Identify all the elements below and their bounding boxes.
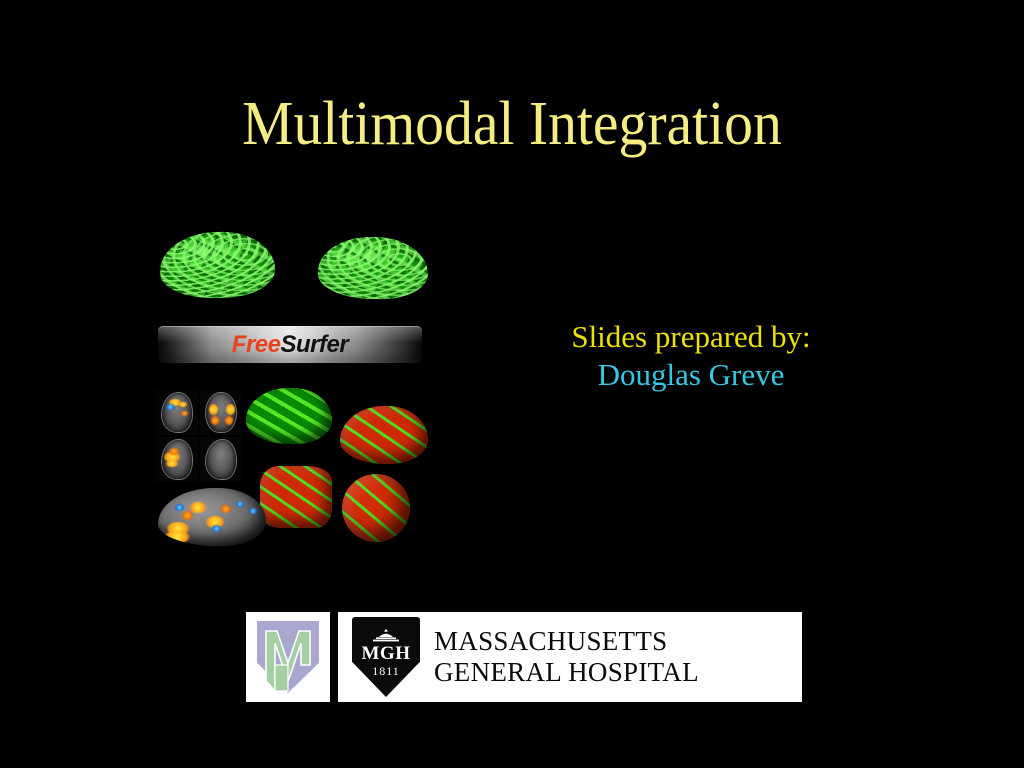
mgh-shield-year: 1811 [352, 665, 420, 678]
flattened-cortical-patch-image [260, 466, 332, 528]
mri-slice-axial-overlay [200, 390, 242, 435]
curvature-map-render [342, 474, 410, 542]
activation-blob [169, 448, 179, 455]
activation-cluster [164, 531, 190, 543]
martinos-shield-icon [257, 621, 319, 693]
mgh-wordmark: MASSACHUSETTS GENERAL HOSPITAL [434, 626, 699, 688]
activation-blob [179, 402, 187, 407]
freesurfer-logo-surfer-text: Surfer [281, 331, 349, 359]
activation-cluster [212, 525, 221, 532]
presentation-slide: Multimodal Integration FreeSurfer [0, 0, 1024, 768]
freesurfer-logo-free-text: Free [232, 331, 281, 359]
slide-title: Multimodal Integration [36, 88, 988, 160]
activation-blob [211, 416, 219, 425]
martinos-center-logo [246, 612, 330, 702]
cortical-folding-texture [159, 230, 276, 300]
inflated-activation-surface-image [158, 488, 266, 546]
activation-blob [226, 404, 235, 415]
mri-slice-sagittal-overlay-2 [156, 437, 198, 482]
spherical-surface-image [342, 474, 410, 542]
mgh-shield-icon: MGH 1811 [352, 617, 420, 697]
mri-slice-grid [156, 390, 242, 482]
mri-slice-anatomical [200, 437, 242, 482]
activation-cluster [221, 505, 231, 513]
mgh-wordmark-line-2: GENERAL HOSPITAL [434, 657, 699, 688]
curvature-map-render [340, 406, 428, 464]
mgh-logo: MGH 1811 MASSACHUSETTS GENERAL HOSPITAL [338, 612, 802, 702]
right-hemisphere-surface-image [317, 236, 428, 300]
activation-cluster [249, 508, 257, 514]
cortical-folding-texture [317, 236, 428, 300]
freesurfer-pipeline-montage [150, 388, 438, 556]
author-name: Douglas Greve [500, 356, 882, 394]
freesurfer-graphic-group: FreeSurfer [150, 210, 440, 565]
activation-cluster [175, 504, 184, 511]
logo-strip: MGH 1811 MASSACHUSETTS GENERAL HOSPITAL [246, 612, 802, 702]
pial-surface-render [246, 388, 332, 444]
freesurfer-logo: FreeSurfer [158, 326, 422, 363]
activation-blob [166, 404, 175, 410]
inflated-surface-render [158, 488, 266, 546]
inflated-curvature-surface-image [340, 406, 428, 464]
folded-cortical-surface-image [246, 388, 332, 444]
mgh-shield-letters: MGH [352, 644, 420, 664]
curvature-map-render [260, 466, 332, 528]
mri-slice-sagittal-overlay [156, 390, 198, 435]
activation-cluster [190, 502, 206, 513]
mgh-wordmark-line-1: MASSACHUSETTS [434, 626, 699, 657]
left-hemisphere-surface-image [159, 230, 276, 300]
dome-building-icon [371, 629, 401, 643]
activation-cluster [182, 511, 193, 520]
activation-blob [209, 404, 218, 415]
activation-blob [181, 411, 188, 416]
slides-prepared-by-label: Slides prepared by: [500, 318, 882, 356]
activation-cluster [236, 501, 244, 507]
head-outline [206, 440, 236, 480]
credit-block: Slides prepared by: Douglas Greve [500, 318, 882, 394]
martinos-m-arrow-icon [263, 629, 313, 693]
